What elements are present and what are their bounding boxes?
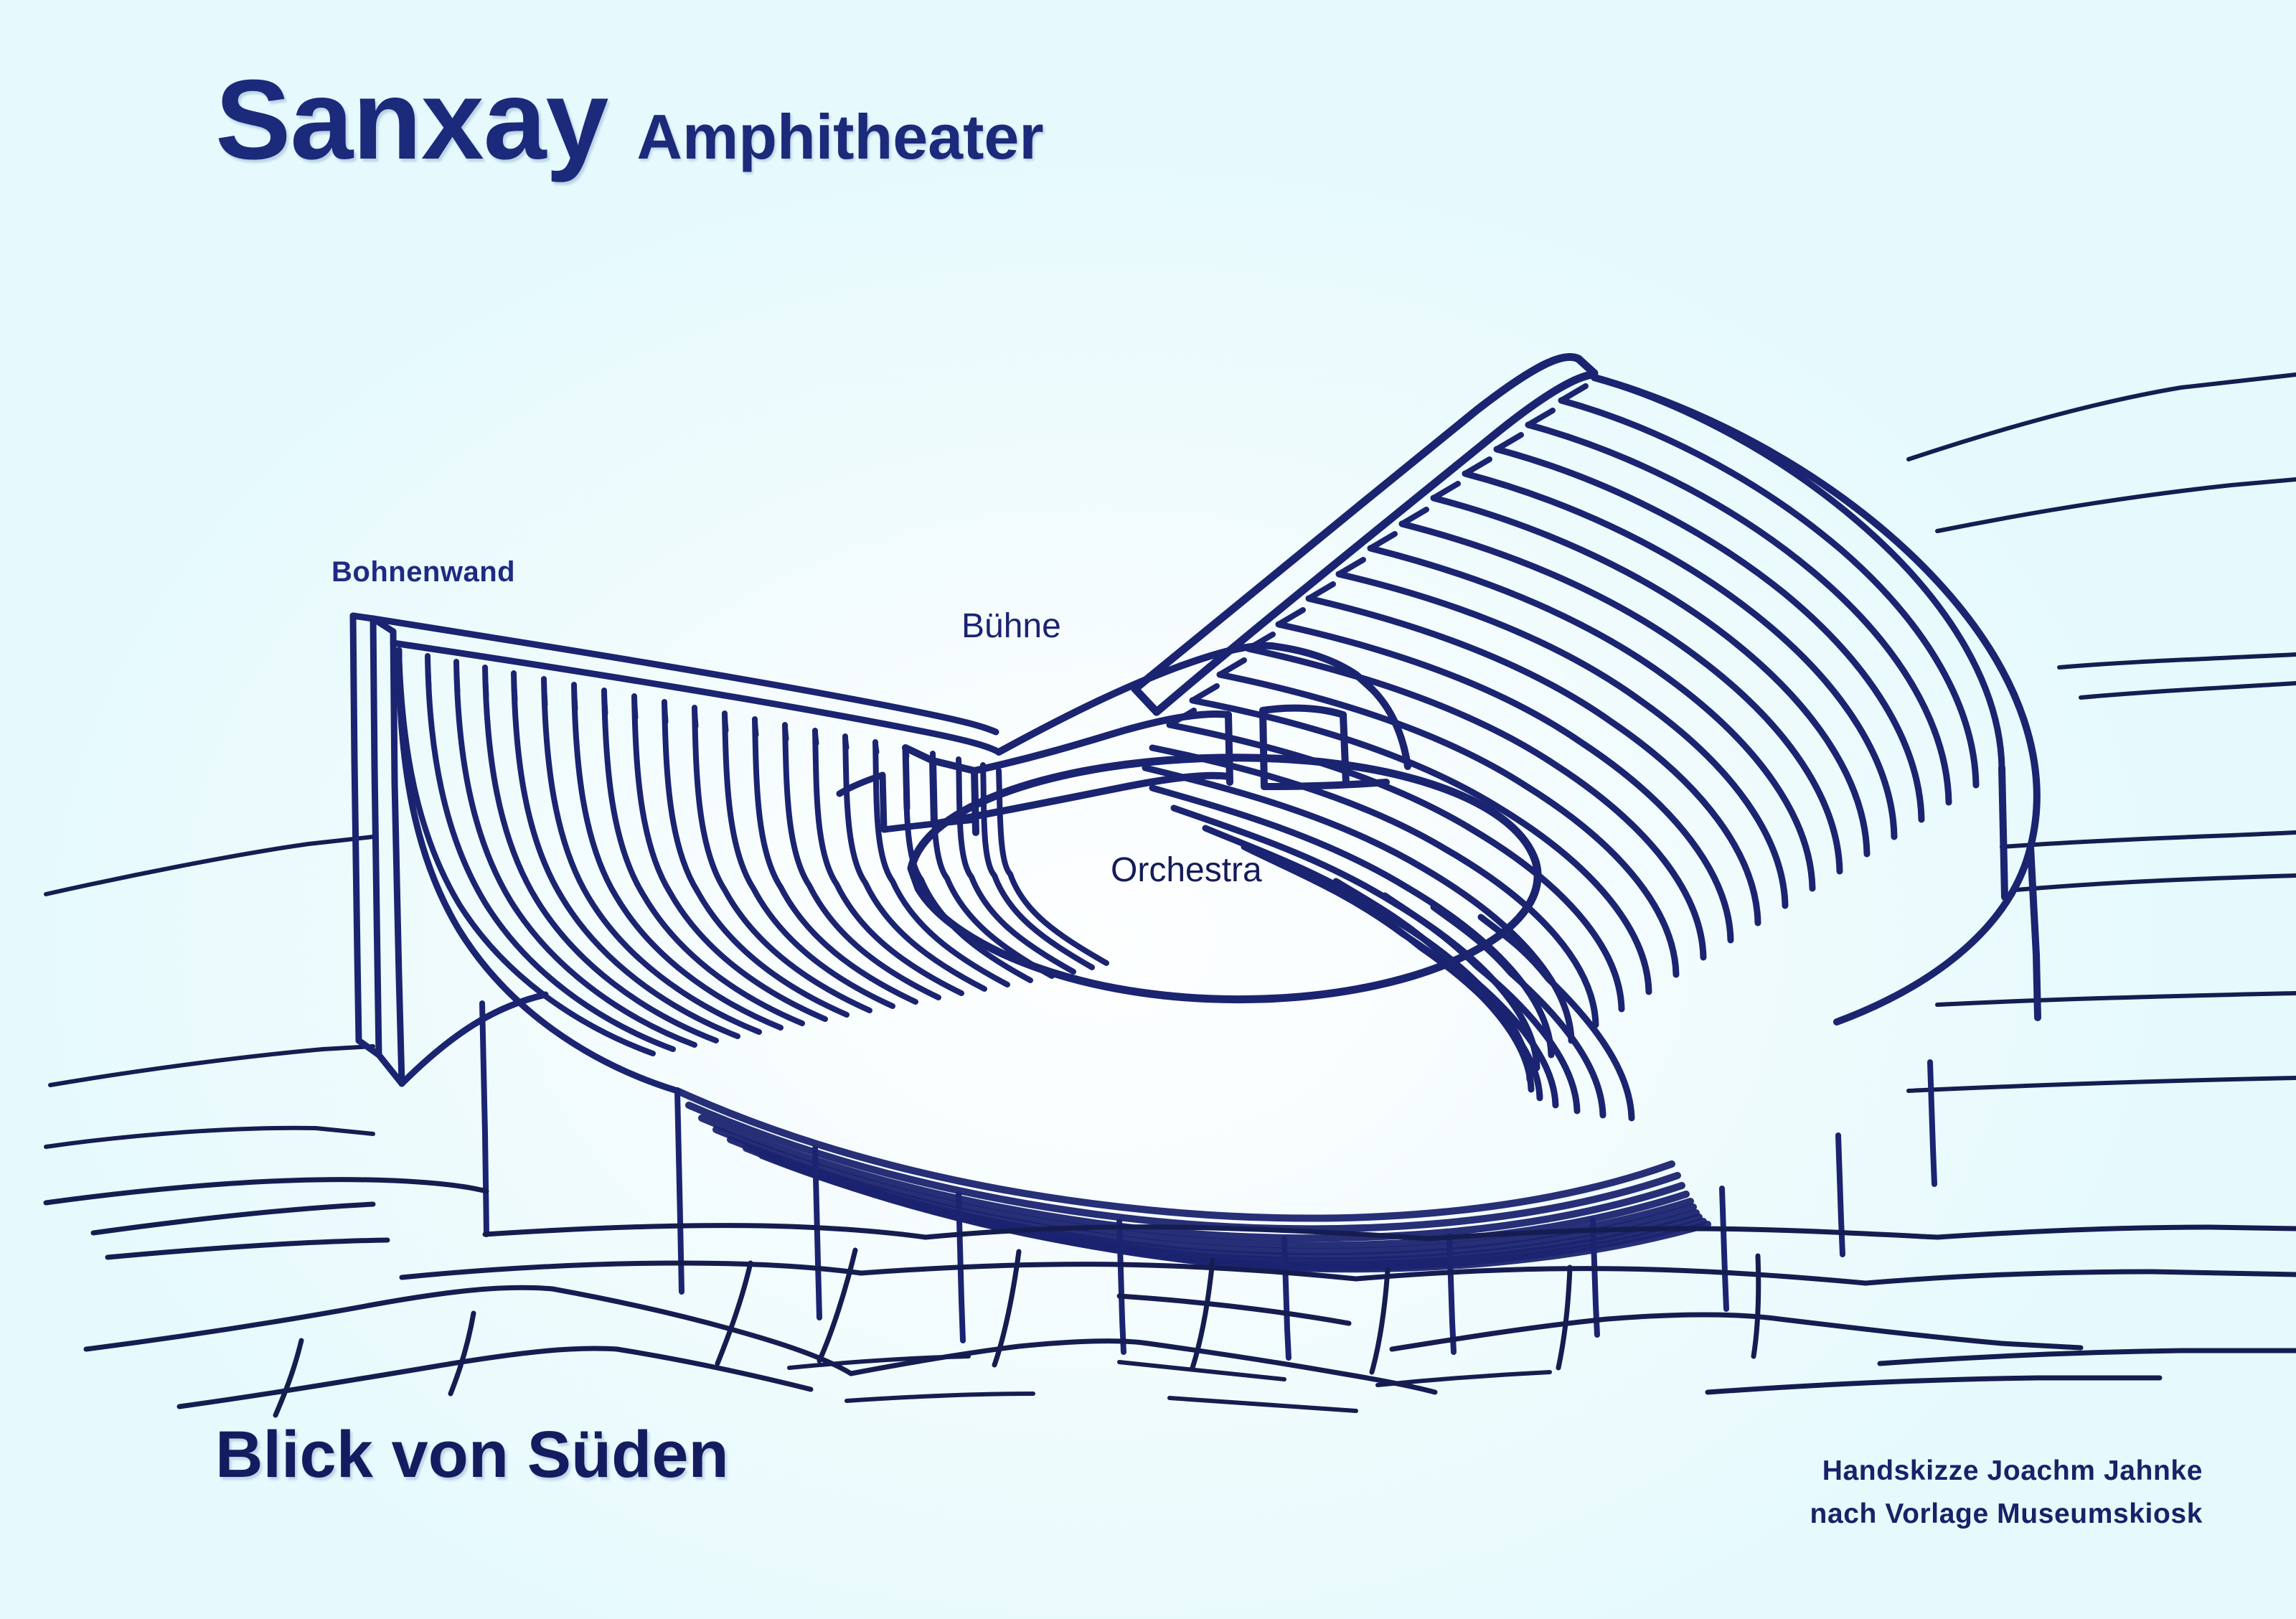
caption-view-direction: Blick von Süden bbox=[215, 1417, 729, 1493]
stage-left-abutment bbox=[839, 748, 976, 830]
terrain-background bbox=[1909, 375, 2296, 1091]
cavea-left-radial-ticks bbox=[399, 650, 907, 756]
credit-line-author: Handskizze Joachm Jahnke bbox=[1810, 1450, 2203, 1493]
label-stage: Bühne bbox=[961, 606, 1061, 646]
amphitheater-sketch bbox=[0, 0, 2296, 1619]
terrain-left-background bbox=[46, 837, 373, 1147]
label-orchestra: Orchestra bbox=[1111, 850, 1262, 890]
title-subtitle: Amphitheater bbox=[636, 105, 1043, 169]
cavea-base-shadow-band bbox=[677, 1091, 1708, 1269]
cavea-left-seat-rows bbox=[399, 650, 1106, 1053]
cavea-left-outer-edge bbox=[399, 650, 677, 1091]
stage-wall-left bbox=[353, 616, 402, 1084]
support-piers bbox=[482, 1003, 1934, 1358]
cavea-right-seat-rows bbox=[1145, 377, 2002, 1118]
stage-platform bbox=[905, 646, 1408, 832]
page-title: Sanxay Amphitheater bbox=[215, 63, 1044, 177]
cavea-right-radial-ticks bbox=[1170, 386, 1586, 725]
title-main: Sanxay bbox=[215, 63, 608, 177]
cavea-right-spine bbox=[1135, 357, 1594, 712]
sketch-page: Sanxay Amphitheater Bohnenwand Bühne Orc… bbox=[0, 0, 2296, 1619]
credit-line-source: nach Vorlage Museumskiosk bbox=[1810, 1493, 2203, 1536]
cavea-right-outer-rim bbox=[1594, 377, 2038, 1022]
cavea-left-top-rail bbox=[373, 619, 999, 752]
terrain-bottom-strokes bbox=[789, 1356, 1550, 1411]
terrain-hatch-strokes bbox=[276, 1250, 1759, 1415]
credit-block: Handskizze Joachm Jahnke nach Vorlage Mu… bbox=[1810, 1450, 2203, 1536]
terrain-foreground bbox=[46, 1180, 2296, 1407]
label-stage-wall: Bohnenwand bbox=[331, 556, 515, 588]
